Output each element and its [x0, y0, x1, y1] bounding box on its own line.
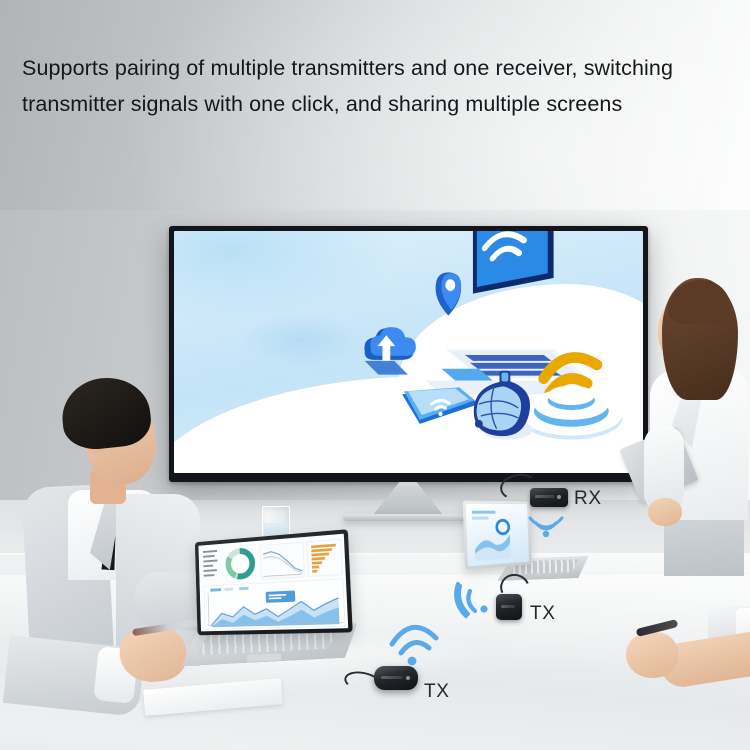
tx2-wifi-waves: [386, 616, 442, 666]
man-hair: [59, 374, 154, 453]
laptop-a-lid: [195, 529, 353, 635]
headline-text: Supports pairing of multiple transmitter…: [22, 50, 734, 122]
woman-hand: [648, 498, 682, 526]
rx-body: [530, 488, 568, 507]
tx1-wifi-waves: [452, 578, 504, 622]
laptop-dashboard: [175, 532, 353, 669]
tx2-label: TX: [424, 681, 449, 703]
right-fist: [626, 632, 678, 678]
isometric-illustration: [174, 231, 643, 473]
tx2-led: [406, 676, 410, 680]
tx2-body: [374, 666, 418, 690]
laptop-b-lid: [463, 500, 532, 569]
wall-mounted-tv: [169, 226, 648, 482]
tx1-label: TX: [530, 603, 555, 625]
rx-wifi-waves: [524, 512, 568, 542]
hand-right-with-pen: [612, 606, 750, 702]
rx-led: [557, 495, 561, 499]
area-chart: [204, 579, 345, 630]
cloud-upload-icon: [364, 327, 415, 375]
tv-stand-base: [343, 514, 473, 521]
rx-light-strip: [535, 495, 555, 498]
laptop-a-screen: [198, 534, 348, 632]
tx2-dongle[interactable]: [374, 666, 418, 690]
standing-woman: [646, 276, 750, 576]
rx-dongle[interactable]: [530, 488, 568, 507]
tx2-light-strip: [381, 676, 403, 679]
laptop-b-screen: [466, 504, 529, 567]
product-feature-image: Supports pairing of multiple transmitter…: [0, 0, 750, 750]
bar-chart: [307, 539, 343, 576]
tv-screen: [174, 231, 643, 473]
rx-label: RX: [574, 488, 602, 510]
location-pin-icon: [436, 272, 462, 315]
line-chart: [260, 542, 304, 579]
